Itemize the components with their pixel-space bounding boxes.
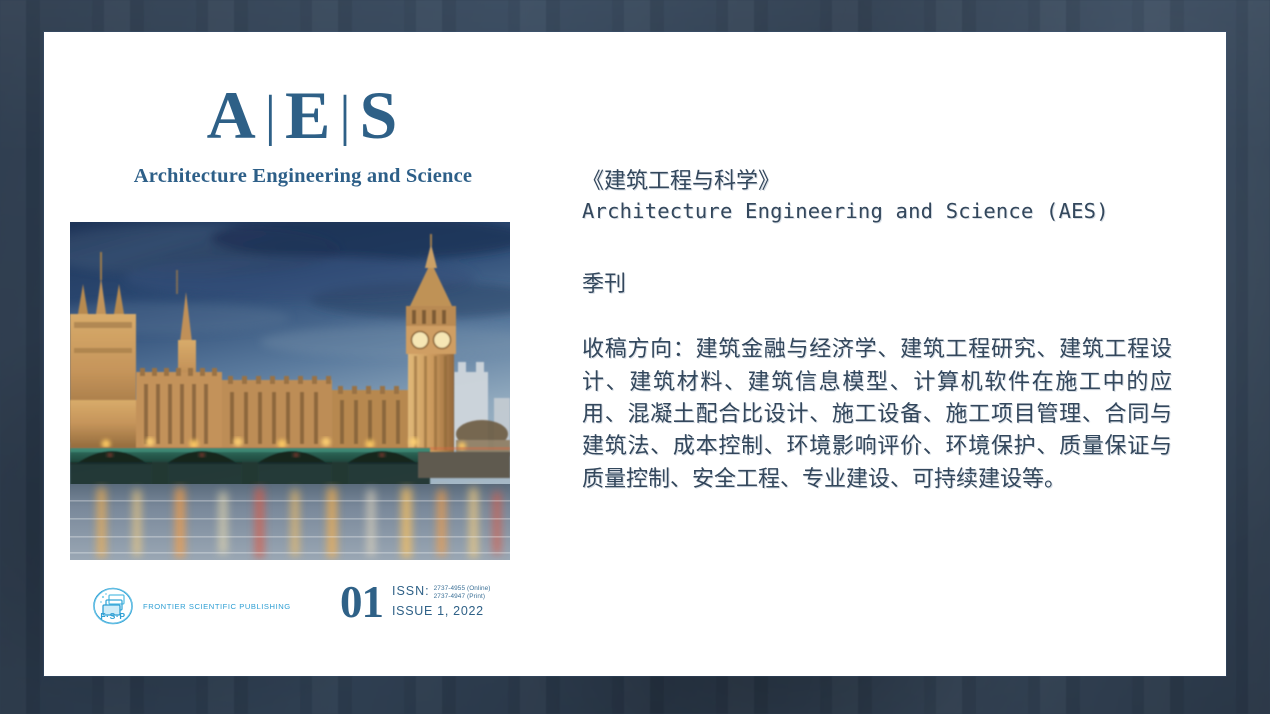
submission-scope: 收稿方向：建筑金融与经济学、建筑工程研究、建筑工程设计、建筑材料、建筑信息模型、… — [582, 334, 1172, 496]
journal-logo-wordmark: A|E|S — [70, 80, 536, 151]
journal-logo-subtitle: Architecture Engineering and Science — [70, 165, 536, 188]
slide-root: A|E|S Architecture Engineering and Scien… — [0, 0, 1270, 714]
cover-footer: F·S·P FRONTIER SCIENTIFIC PUBLISHING 01 … — [44, 580, 554, 676]
journal-description-panel: 《建筑工程与科学》 Architecture Engineering and S… — [538, 32, 1226, 676]
publication-frequency: 季刊 — [582, 266, 1172, 298]
issn-print: 2737-4947 (Print) — [434, 593, 485, 600]
issue-line: ISSUE 1, 2022 — [392, 604, 491, 618]
fsp-logo-icon: F·S·P — [92, 586, 134, 626]
journal-title-en: Architecture Engineering and Science (AE… — [582, 197, 1172, 226]
journal-title-cn: 《建筑工程与科学》 — [582, 166, 1172, 197]
westminster-big-ben-illustration — [70, 222, 510, 560]
issn-row: ISSN: 2737-4955 (Online) 2737-4947 (Prin… — [392, 584, 491, 601]
publisher-name: FRONTIER SCIENTIFIC PUBLISHING — [143, 602, 291, 611]
issn-label: ISSN: — [392, 584, 430, 599]
publisher-group: F·S·P FRONTIER SCIENTIFIC PUBLISHING — [92, 586, 291, 626]
logo-separator-2: | — [332, 85, 359, 147]
issue-number: 01 — [340, 580, 383, 625]
cover-photo — [70, 222, 510, 560]
journal-cover-panel: A|E|S Architecture Engineering and Scien… — [44, 32, 554, 676]
issue-group: 01 ISSN: 2737-4955 (Online) 2737-4947 (P… — [340, 580, 491, 625]
logo-letter-s: S — [360, 77, 400, 153]
logo-separator-1: | — [258, 85, 285, 147]
issue-meta: ISSN: 2737-4955 (Online) 2737-4947 (Prin… — [392, 580, 491, 618]
issn-values: 2737-4955 (Online) 2737-4947 (Print) — [434, 584, 491, 601]
description-block: 《建筑工程与科学》 Architecture Engineering and S… — [582, 166, 1172, 496]
journal-info-card: A|E|S Architecture Engineering and Scien… — [44, 32, 1226, 676]
issn-online: 2737-4955 (Online) — [434, 585, 491, 592]
logo-letter-e: E — [285, 77, 332, 153]
journal-logo-block: A|E|S Architecture Engineering and Scien… — [70, 80, 536, 188]
logo-letter-a: A — [207, 77, 258, 153]
svg-text:F·S·P: F·S·P — [100, 611, 125, 621]
